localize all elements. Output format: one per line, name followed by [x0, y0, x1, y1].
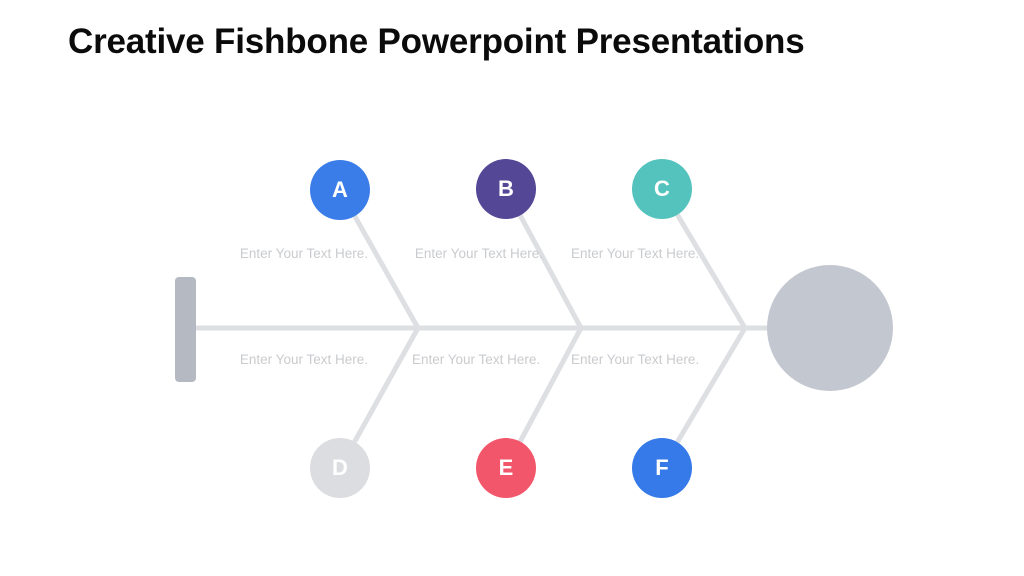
node-circle-e[interactable]: E	[476, 438, 536, 498]
branch-line-f	[677, 328, 745, 442]
node-circle-c[interactable]: C	[632, 159, 692, 219]
node-circle-b[interactable]: B	[476, 159, 536, 219]
branch-line-b	[520, 215, 581, 328]
branch-line-e	[520, 328, 581, 442]
branch-line-c	[677, 215, 745, 328]
head-circle	[767, 265, 893, 391]
node-letter-e: E	[499, 457, 514, 479]
branch-label-b[interactable]: Enter Your Text Here.	[0, 247, 543, 261]
slide-canvas: Creative Fishbone Powerpoint Presentatio…	[0, 0, 1024, 576]
node-letter-d: D	[332, 457, 348, 479]
branch-label-d[interactable]: Enter Your Text Here.	[0, 353, 368, 367]
branch-line-d	[355, 328, 418, 442]
node-letter-b: B	[498, 178, 514, 200]
node-letter-c: C	[654, 178, 670, 200]
fishbone-skeleton	[175, 265, 893, 391]
branch-label-f[interactable]: Enter Your Text Here.	[571, 353, 699, 367]
node-circle-a[interactable]: A	[310, 160, 370, 220]
node-letter-a: A	[332, 179, 348, 201]
node-letter-f: F	[655, 457, 668, 479]
node-circle-f[interactable]: F	[632, 438, 692, 498]
node-circle-d[interactable]: D	[310, 438, 370, 498]
branch-label-c[interactable]: Enter Your Text Here.	[571, 247, 699, 261]
branch-label-e[interactable]: Enter Your Text Here.	[412, 353, 540, 367]
branch-line-a	[355, 216, 418, 328]
